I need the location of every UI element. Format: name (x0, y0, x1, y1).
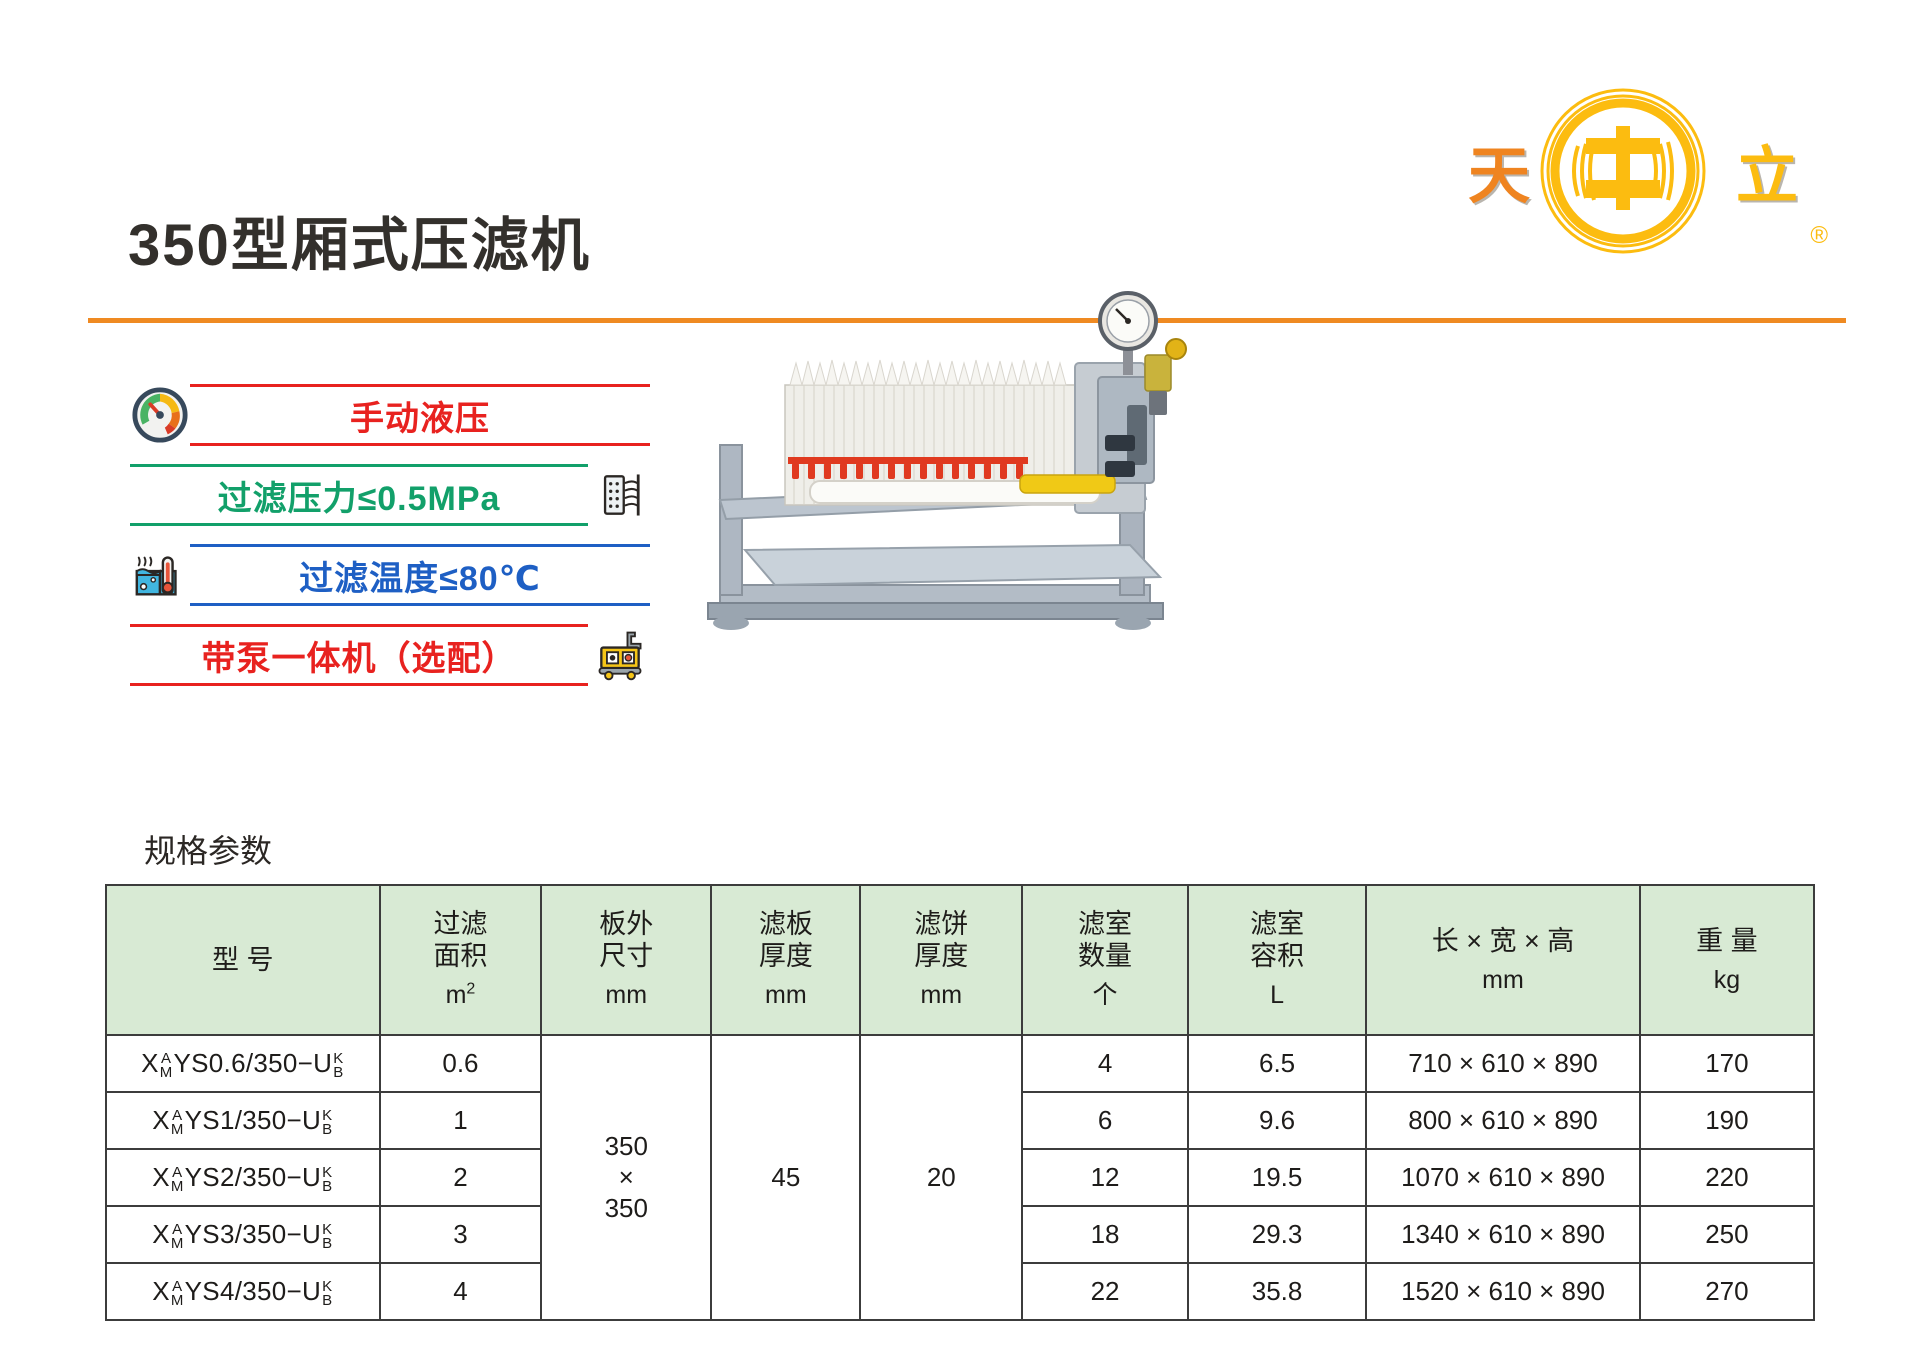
filter-press-product-photo (690, 285, 1510, 655)
registered-trademark-icon: ® (1810, 222, 1828, 250)
plate-size-line-2: 350 (542, 1193, 710, 1224)
logo-char-right: 立 (1736, 146, 1798, 208)
cell-dimensions: 1070 × 610 × 890 (1366, 1149, 1640, 1206)
filter-plate-icon (590, 465, 650, 525)
cell-model: XAMYS4/350−UKB (106, 1263, 380, 1320)
col-header-title-2: 尺寸 (599, 941, 653, 971)
cell-model: XAMYS1/350−UKB (106, 1092, 380, 1149)
col-header-plate-outer-size: 板外 尺寸 mm (541, 885, 711, 1035)
model-sub: M (171, 1294, 184, 1308)
feature-item-filter-temperature: 过滤温度≤80℃ (130, 535, 650, 615)
cell-chamber-count: 12 (1022, 1149, 1188, 1206)
feature-band: 手动液压 (190, 382, 650, 448)
page-title: 350型厢式压滤机 (128, 198, 591, 282)
cell-model: XAMYS0.6/350−UKB (106, 1035, 380, 1092)
cell-weight: 190 (1640, 1092, 1814, 1149)
feature-line-bottom (190, 603, 650, 606)
spec-table: 型 号 过滤 面积 m2 板外 尺寸 mm (105, 884, 1815, 1321)
col-header-filter-area: 过滤 面积 m2 (380, 885, 542, 1035)
plate-size-multiply: × (542, 1162, 710, 1193)
model-sub: B (322, 1180, 332, 1194)
model-prefix: X (152, 1162, 170, 1192)
cell-filter-area: 2 (380, 1149, 542, 1206)
feature-label: 过滤温度≤80℃ (190, 551, 650, 600)
col-header-plate-thickness: 滤板 厚度 mm (711, 885, 860, 1035)
cell-model: XAMYS2/350−UKB (106, 1149, 380, 1206)
model-mid: YS4/350−U (185, 1276, 321, 1306)
cell-dimensions: 800 × 610 × 890 (1366, 1092, 1640, 1149)
cell-chamber-volume: 19.5 (1188, 1149, 1366, 1206)
col-header-title: 滤饼 (914, 909, 968, 939)
col-header-model: 型 号 (106, 885, 380, 1035)
model-sub: B (322, 1123, 332, 1137)
feature-label: 手动液压 (190, 391, 650, 440)
product-spec-sheet: 350型厢式压滤机 天 立 ® (0, 0, 1920, 1354)
plate-size-line-1: 350 (542, 1131, 710, 1162)
col-header-title: 滤室 (1078, 909, 1132, 939)
col-header-title: 重 量 (1696, 926, 1758, 956)
cell-filter-area: 3 (380, 1206, 542, 1263)
model-mid: YS3/350−U (185, 1219, 321, 1249)
col-header-unit: mm (861, 979, 1021, 1011)
model-sub: M (171, 1123, 184, 1137)
col-header-title: 滤板 (759, 909, 813, 939)
feature-line-top (190, 384, 650, 387)
cell-chamber-count: 22 (1022, 1263, 1188, 1320)
col-header-title-2: 面积 (433, 941, 487, 971)
cell-dimensions: 710 × 610 × 890 (1366, 1035, 1640, 1092)
feature-list: 手动液压 (130, 375, 650, 695)
cell-cake-thickness: 20 (860, 1035, 1022, 1320)
cell-dimensions: 1520 × 610 × 890 (1366, 1263, 1640, 1320)
feature-item-integrated-pump: 带泵一体机（选配） (130, 615, 650, 695)
feature-band: 带泵一体机（选配） (130, 622, 588, 688)
feature-label: 带泵一体机（选配） (130, 631, 588, 680)
cell-chamber-count: 18 (1022, 1206, 1188, 1263)
model-mid: YS2/350−U (185, 1162, 321, 1192)
col-header-unit: m2 (381, 979, 541, 1011)
thermometer-water-icon (130, 545, 190, 605)
col-header-title: 过滤 (433, 909, 487, 939)
cell-weight: 250 (1640, 1206, 1814, 1263)
feature-line-bottom (130, 523, 588, 526)
cell-chamber-count: 6 (1022, 1092, 1188, 1149)
col-header-title: 型 号 (212, 945, 274, 975)
model-sub: B (333, 1066, 343, 1080)
feature-line-top (130, 624, 588, 627)
feature-line-top (190, 544, 650, 547)
model-mid: YS1/350−U (185, 1105, 321, 1135)
feature-band: 过滤温度≤80℃ (190, 542, 650, 608)
col-header-dimensions: 长 × 宽 × 高 mm (1366, 885, 1640, 1035)
feature-line-bottom (190, 443, 650, 446)
header: 350型厢式压滤机 天 立 ® (0, 0, 1920, 330)
col-header-unit: 个 (1023, 979, 1187, 1011)
col-header-title-2: 容积 (1250, 941, 1304, 971)
col-header-cake-thickness: 滤饼 厚度 mm (860, 885, 1022, 1035)
col-header-chamber-count: 滤室 数量 个 (1022, 885, 1188, 1035)
col-header-title-2: 厚度 (759, 941, 813, 971)
cell-filter-area: 1 (380, 1092, 542, 1149)
model-sub: B (322, 1294, 332, 1308)
col-header-title: 长 × 宽 × 高 (1432, 926, 1575, 956)
col-header-unit: mm (1367, 964, 1639, 996)
cell-filter-area: 0.6 (380, 1035, 542, 1092)
logo-emblem-icon (1538, 86, 1708, 256)
cell-chamber-count: 4 (1022, 1035, 1188, 1092)
model-mid: YS0.6/350−U (174, 1048, 333, 1078)
model-sub: M (171, 1237, 184, 1251)
pressure-gauge-icon (130, 385, 190, 445)
col-header-title-2: 数量 (1078, 941, 1132, 971)
table-header-row: 型 号 过滤 面积 m2 板外 尺寸 mm (106, 885, 1814, 1035)
model-prefix: X (152, 1276, 170, 1306)
cell-chamber-volume: 6.5 (1188, 1035, 1366, 1092)
cell-weight: 170 (1640, 1035, 1814, 1092)
feature-item-filter-pressure: 过滤压力≤0.5MPa (130, 455, 650, 535)
feature-band: 过滤压力≤0.5MPa (130, 462, 588, 528)
table-row: XAMYS0.6/350−UKB 0.6 350 × 350 45 20 4 6… (106, 1035, 1814, 1092)
col-header-title: 滤室 (1250, 909, 1304, 939)
model-sub: B (322, 1237, 332, 1251)
cell-model: XAMYS3/350−UKB (106, 1206, 380, 1263)
cell-filter-area: 4 (380, 1263, 542, 1320)
pump-machine-icon (590, 625, 650, 685)
model-sub: M (160, 1066, 173, 1080)
cell-weight: 220 (1640, 1149, 1814, 1206)
cell-weight: 270 (1640, 1263, 1814, 1320)
feature-line-bottom (130, 683, 588, 686)
logo-char-left: 天 (1468, 146, 1530, 208)
model-prefix: X (141, 1048, 159, 1078)
cell-chamber-volume: 29.3 (1188, 1206, 1366, 1263)
col-header-unit: mm (542, 979, 710, 1011)
model-prefix: X (152, 1105, 170, 1135)
col-header-unit: L (1189, 979, 1365, 1011)
model-sub: M (171, 1180, 184, 1194)
feature-line-top (130, 464, 588, 467)
cell-chamber-volume: 35.8 (1188, 1263, 1366, 1320)
feature-item-manual-hydraulic: 手动液压 (130, 375, 650, 455)
cell-plate-outer-size: 350 × 350 (541, 1035, 711, 1320)
cell-chamber-volume: 9.6 (1188, 1092, 1366, 1149)
col-header-chamber-volume: 滤室 容积 L (1188, 885, 1366, 1035)
col-header-unit: kg (1641, 964, 1813, 996)
col-header-weight: 重 量 kg (1640, 885, 1814, 1035)
col-header-title: 板外 (599, 909, 653, 939)
cell-plate-thickness: 45 (711, 1035, 860, 1320)
cell-dimensions: 1340 × 610 × 890 (1366, 1206, 1640, 1263)
feature-label: 过滤压力≤0.5MPa (130, 471, 588, 520)
brand-logo: 天 立 ® (1462, 84, 1832, 256)
spec-section-label: 规格参数 (144, 826, 272, 872)
col-header-title-2: 厚度 (914, 941, 968, 971)
spec-table-container: 型 号 过滤 面积 m2 板外 尺寸 mm (105, 884, 1815, 1321)
model-prefix: X (152, 1219, 170, 1249)
col-header-unit: mm (712, 979, 859, 1011)
